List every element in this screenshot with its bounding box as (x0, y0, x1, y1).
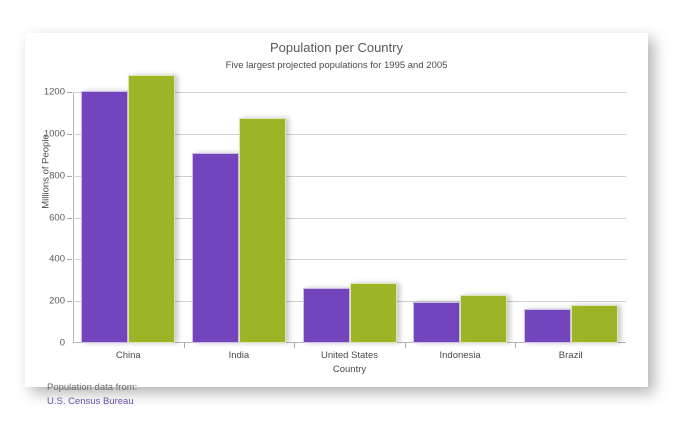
bar-group (303, 92, 397, 343)
bar-group (192, 92, 286, 343)
bar-china-2005[interactable] (128, 75, 175, 343)
y-axis-tick-mark (67, 259, 72, 260)
bar-united-states-1995[interactable] (303, 288, 350, 343)
chart-panel: Population per Country Five largest proj… (25, 33, 648, 387)
bar-group (413, 92, 507, 343)
bar-brazil-1995[interactable] (524, 309, 571, 343)
x-axis-tick-mark (184, 343, 185, 348)
screenshot-root: Population per Country Five largest proj… (0, 0, 687, 426)
x-axis-tick-label: China (116, 350, 141, 361)
x-axis-tick-marks (73, 343, 626, 349)
x-axis-tick-mark (405, 343, 406, 348)
footer-caption: Population data from: (47, 382, 137, 393)
bar-indonesia-2005[interactable] (460, 295, 507, 343)
bar-indonesia-1995[interactable] (413, 302, 460, 343)
y-axis-tick-mark (67, 92, 72, 93)
plot-area (73, 92, 626, 343)
chart-subtitle: Five largest projected populations for 1… (25, 60, 648, 71)
y-axis-tick-mark (67, 218, 72, 219)
x-axis-tick-mark (294, 343, 295, 348)
bar-united-states-2005[interactable] (350, 283, 397, 343)
x-axis-tick-label: Indonesia (439, 350, 480, 361)
bar-brazil-2005[interactable] (571, 305, 618, 343)
y-axis-tick-mark (67, 134, 72, 135)
chart-footer: Population data from: U.S. Census Bureau (47, 381, 137, 409)
x-axis-tick-label: United States (321, 350, 378, 361)
y-axis-tick-marks (25, 92, 73, 343)
y-axis-tick-mark (67, 176, 72, 177)
x-axis-tick-label: India (229, 350, 250, 361)
bar-china-1995[interactable] (81, 91, 128, 343)
x-axis-tick-mark (515, 343, 516, 348)
bar-india-2005[interactable] (239, 118, 286, 343)
page-title: Population per Country (25, 40, 648, 55)
x-axis-title: Country (73, 364, 626, 375)
x-axis-tick-labels: ChinaIndiaUnited StatesIndonesiaBrazil (73, 350, 626, 364)
bar-group (81, 92, 175, 343)
data-source-link[interactable]: U.S. Census Bureau (47, 395, 137, 409)
x-axis-tick-label: Brazil (559, 350, 583, 361)
y-axis-tick-mark (67, 301, 72, 302)
bar-group (524, 92, 618, 343)
bar-india-1995[interactable] (192, 153, 239, 343)
